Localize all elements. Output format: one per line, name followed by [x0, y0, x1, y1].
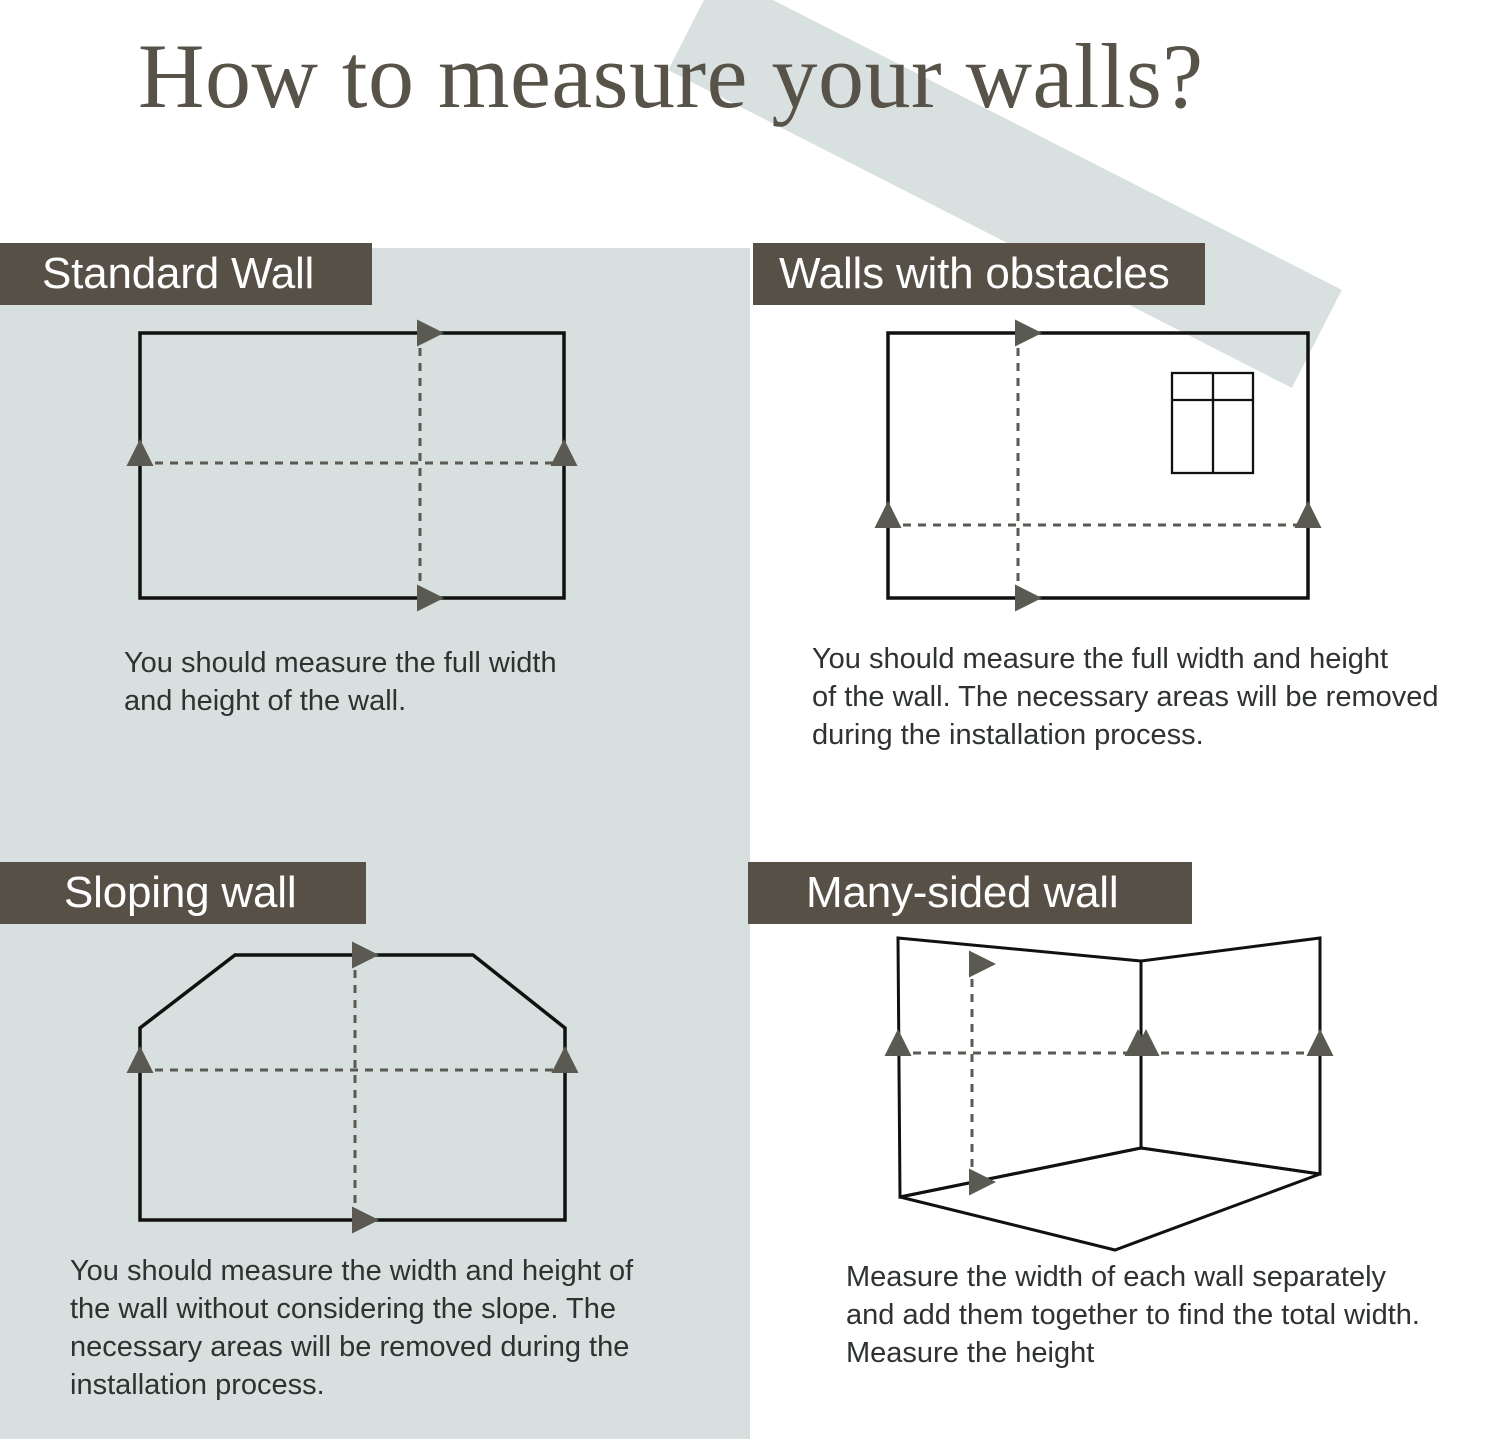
section-header-label: Standard Wall [42, 243, 372, 305]
diagram-standard-wall [120, 315, 590, 625]
window-obstacle-icon [1172, 373, 1253, 473]
infographic-canvas: How to measure your walls? Standard Wall [0, 0, 1500, 1439]
diagram-many-sided-wall [870, 920, 1340, 1270]
section-header-sloping-wall: Sloping wall [0, 862, 366, 924]
wall-outline [140, 955, 565, 1220]
section-header-label: Many-sided wall [806, 862, 1192, 924]
section-header-label: Walls with obstacles [779, 243, 1205, 305]
caption-many-sided-wall: Measure the width of each wall separatel… [846, 1258, 1466, 1372]
diagram-sloping-wall [120, 935, 590, 1245]
caption-standard-wall: You should measure the full width and he… [124, 644, 644, 720]
wall-outline [140, 333, 564, 598]
section-header-many-sided-wall: Many-sided wall [748, 862, 1192, 924]
diagram-walls-with-obstacles [865, 315, 1335, 625]
section-header-label: Sloping wall [64, 862, 366, 924]
floor-outline [900, 1148, 1320, 1250]
left-wall-outline [898, 938, 1141, 1197]
page-title: How to measure your walls? [138, 28, 1388, 125]
right-wall-outline [1141, 938, 1320, 1174]
section-header-walls-with-obstacles: Walls with obstacles [753, 243, 1205, 305]
section-header-standard-wall: Standard Wall [0, 243, 372, 305]
caption-walls-with-obstacles: You should measure the full width and he… [812, 640, 1472, 754]
caption-sloping-wall: You should measure the width and height … [70, 1252, 690, 1404]
